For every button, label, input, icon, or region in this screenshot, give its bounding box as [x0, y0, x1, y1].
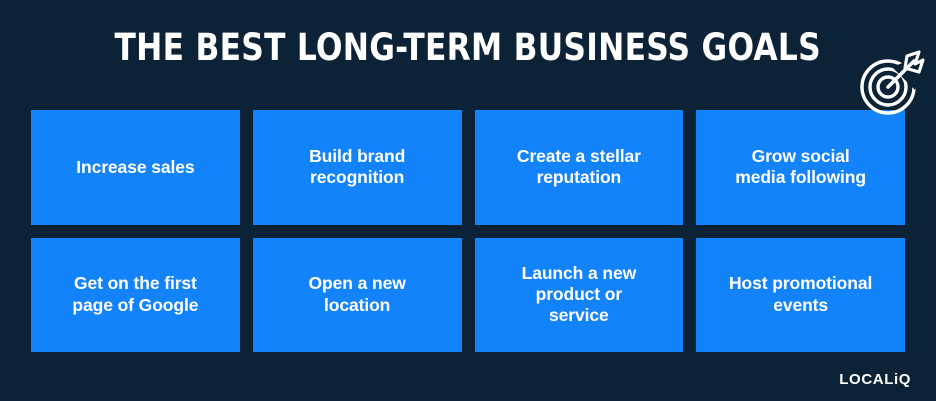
page-title: THE BEST LONG-TERM BUSINESS GOALS	[115, 29, 821, 66]
goal-card-7[interactable]: Launch a new product or service	[475, 238, 684, 353]
brand-logo: LOCALiQ	[839, 372, 911, 387]
goal-card-label: Grow social media following	[735, 146, 866, 189]
goal-card-8[interactable]: Host promotional events	[696, 238, 905, 353]
goal-card-label: Create a stellar reputation	[517, 146, 641, 189]
goal-card-label: Launch a new product or service	[522, 263, 637, 327]
goal-card-2[interactable]: Build brand recognition	[253, 110, 462, 225]
goal-card-6[interactable]: Open a new location	[253, 238, 462, 353]
goal-card-1[interactable]: Increase sales	[31, 110, 240, 225]
goal-card-5[interactable]: Get on the first page of Google	[31, 238, 240, 353]
infographic-canvas: THE BEST LONG-TERM BUSINESS GOALS Increa…	[0, 0, 936, 401]
goal-card-3[interactable]: Create a stellar reputation	[475, 110, 684, 225]
goal-grid: Increase sales Build brand recognition C…	[31, 110, 905, 352]
goal-card-4[interactable]: Grow social media following	[696, 110, 905, 225]
goal-card-label: Open a new location	[309, 273, 406, 316]
goal-card-label: Get on the first page of Google	[72, 273, 198, 316]
goal-card-label: Build brand recognition	[309, 146, 405, 189]
goal-card-label: Increase sales	[76, 157, 194, 178]
header: THE BEST LONG-TERM BUSINESS GOALS	[0, 22, 936, 72]
goal-card-label: Host promotional events	[729, 273, 872, 316]
